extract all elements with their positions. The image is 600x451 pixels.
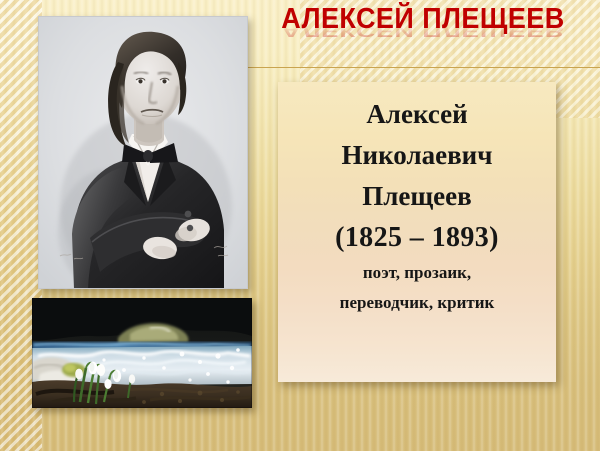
life-dates-line: (1825 – 1893) <box>286 217 548 258</box>
occupations-line-1: поэт, прозаик, <box>286 258 548 288</box>
biography-text-box: Алексей Николаевич Плещеев (1825 – 1893)… <box>278 82 556 382</box>
portrait-illustration <box>38 16 248 289</box>
occupations-line-2: переводчик, критик <box>286 288 548 318</box>
slide-title-block: АЛЕКСЕЙ ПЛЕЩЕЕВ АЛЕКСЕЙ ПЛЕЩЕЕВ <box>246 2 600 66</box>
portrait-image <box>38 16 248 289</box>
surname-line: Плещеев <box>286 176 548 217</box>
patronymic-line: Николаевич <box>286 135 548 176</box>
snowdrops-stream-photo <box>32 298 252 408</box>
title-divider-rule <box>248 67 600 68</box>
presentation-slide: АЛЕКСЕЙ ПЛЕЩЕЕВ АЛЕКСЕЙ ПЛЕЩЕЕВ <box>0 0 600 451</box>
first-name-line: Алексей <box>286 94 548 135</box>
snowdrops-stream-illustration <box>32 298 252 408</box>
page-title-reflection: АЛЕКСЕЙ ПЛЕЩЕЕВ <box>258 25 587 37</box>
